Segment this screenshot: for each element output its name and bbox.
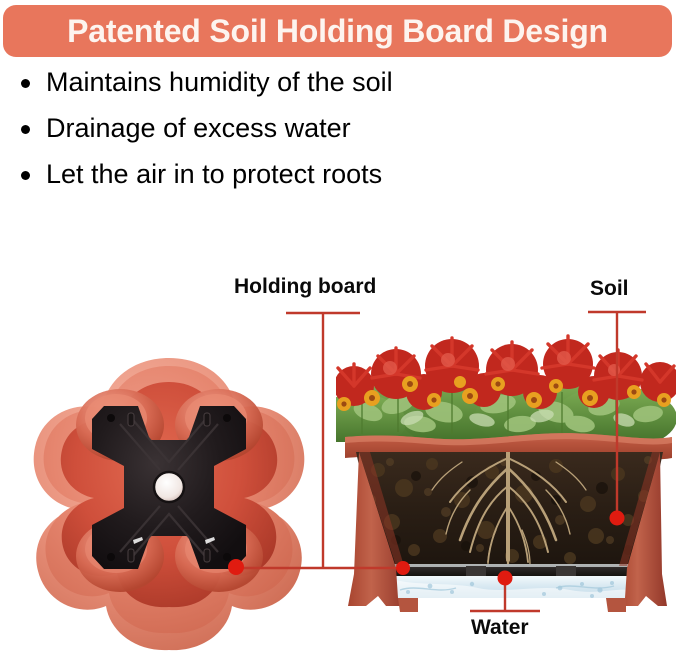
- list-item-label: Maintains humidity of the soil: [46, 67, 393, 97]
- callout-leaders: [236, 312, 646, 611]
- list-item: Maintains humidity of the soil: [14, 66, 534, 99]
- holding-board-band: [381, 564, 640, 578]
- soil-layer: [356, 452, 663, 568]
- bullet-dot-icon: [21, 79, 30, 88]
- callout-label-water: Water: [471, 616, 529, 640]
- dot-holding-board-right: [396, 561, 410, 575]
- flower-heads: [334, 336, 679, 411]
- water-reservoir: [386, 576, 636, 598]
- leader-soil: [588, 312, 646, 518]
- pot-inner-cavity: [61, 382, 277, 607]
- root-system: [432, 452, 586, 564]
- dot-holding-board-left: [228, 559, 244, 575]
- callout-dots: [228, 511, 625, 586]
- top-down-pot-view: [34, 358, 305, 650]
- bullet-dot-icon: [21, 125, 30, 134]
- foliage-layer: [310, 378, 677, 452]
- pot-lobe-wells: [76, 389, 263, 592]
- header-banner: Patented Soil Holding Board Design: [3, 5, 672, 57]
- accent-blooms: [337, 376, 671, 411]
- pot-side-walls: [348, 452, 667, 612]
- callout-label-soil: Soil: [590, 277, 629, 301]
- leader-water: [470, 580, 540, 611]
- leader-holding-board: [236, 313, 403, 568]
- page-title: Patented Soil Holding Board Design: [3, 5, 672, 57]
- feature-list: Maintains humidity of the soil Drainage …: [14, 66, 534, 204]
- dot-soil: [610, 511, 625, 526]
- dot-water: [498, 571, 513, 586]
- pot-outer-body: [34, 358, 305, 650]
- bullet-dot-icon: [21, 171, 30, 180]
- pot-rim: [345, 433, 672, 460]
- pot-cross-section: [310, 336, 679, 612]
- center-drain-hole: [154, 472, 184, 502]
- list-item: Drainage of excess water: [14, 112, 534, 145]
- list-item-label: Let the air in to protect roots: [46, 159, 382, 189]
- black-holding-board-insert: [92, 406, 246, 569]
- list-item: Let the air in to protect roots: [14, 158, 534, 191]
- callout-label-holding-board: Holding board: [234, 275, 376, 299]
- list-item-label: Drainage of excess water: [46, 113, 351, 143]
